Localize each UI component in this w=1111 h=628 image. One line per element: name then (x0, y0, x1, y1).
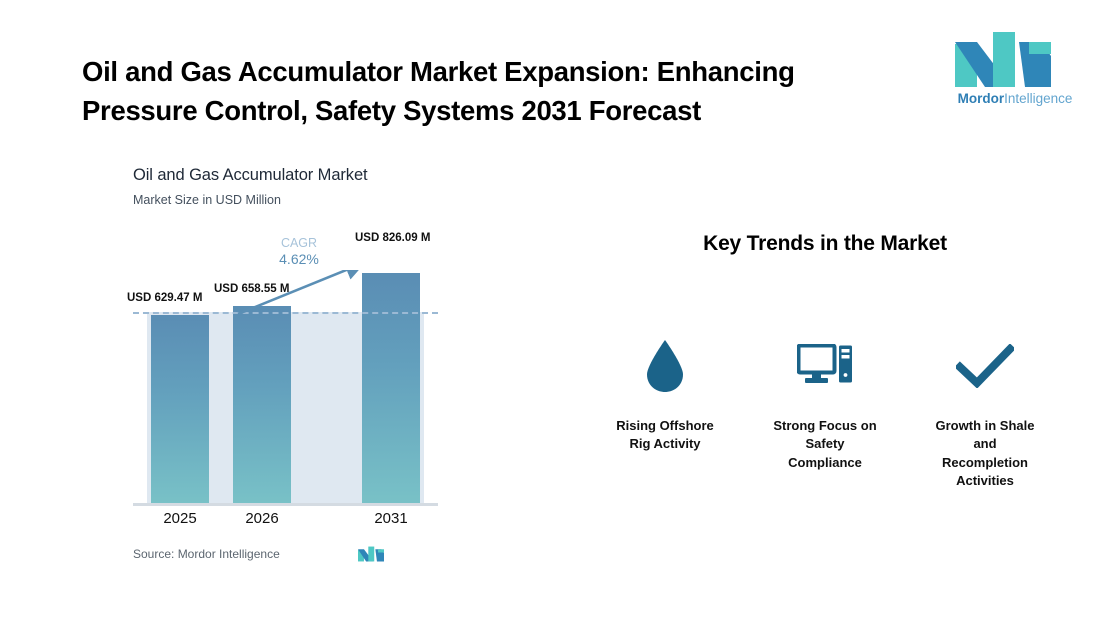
source-label: Source: Mordor Intelligence (133, 547, 280, 561)
checkmark-icon (956, 344, 1014, 388)
bar-chart-plot: USD 629.47 M USD 658.55 M USD 826.09 M C… (133, 270, 438, 506)
trend-label-offshore-rig: Rising Offshore Rig Activity (616, 417, 714, 454)
trend-icon-slot (797, 337, 853, 395)
infographic-page: Oil and Gas Accumulator Market Expansion… (0, 0, 1111, 628)
bar-label-2031: USD 826.09 M (355, 232, 430, 244)
key-trends-row: Rising Offshore Rig Activity Strong Focu… (590, 337, 1060, 491)
page-title-line-1: Oil and Gas Accumulator Market Expansion… (82, 52, 882, 91)
trend-card-offshore-rig: Rising Offshore Rig Activity (590, 337, 740, 491)
key-trends-section: Key Trends in the Market Rising Offshore… (590, 232, 1060, 256)
cagr-annotation: CAGR 4.62% (265, 236, 333, 267)
x-axis-tick-labels: 2025 2026 2031 (133, 510, 438, 532)
brand-wordmark: MordorIntelligence (955, 92, 1075, 106)
trend-icon-slot (644, 337, 686, 395)
mordor-m-icon (955, 32, 1051, 87)
chart-source-row: Source: Mordor Intelligence (133, 546, 438, 562)
trend-label-safety-compliance: Strong Focus on Safety Compliance (773, 417, 876, 472)
key-trends-title: Key Trends in the Market (590, 232, 1060, 256)
growth-arrow-icon (133, 270, 438, 506)
desktop-computer-icon (797, 344, 853, 388)
x-tick-2031: 2031 (361, 510, 421, 527)
x-tick-2026: 2026 (232, 510, 292, 527)
cagr-label-text: CAGR (265, 236, 333, 250)
oil-droplet-icon (644, 339, 686, 393)
source-mordor-logo-icon (358, 546, 384, 562)
brand-word-mordor: Mordor (958, 91, 1005, 106)
cagr-value-text: 4.62% (265, 251, 333, 267)
page-title-line-2: Pressure Control, Safety Systems 2031 Fo… (82, 91, 882, 130)
brand-logo: MordorIntelligence (955, 32, 1075, 106)
trend-label-shale-recompletion: Growth in Shale and Recompletion Activit… (936, 417, 1035, 491)
trend-icon-slot (956, 337, 1014, 395)
x-tick-2025: 2025 (150, 510, 210, 527)
page-title: Oil and Gas Accumulator Market Expansion… (82, 52, 882, 130)
chart-title: Oil and Gas Accumulator Market (133, 166, 453, 185)
trend-card-shale-recompletion: Growth in Shale and Recompletion Activit… (910, 337, 1060, 491)
trend-card-safety-compliance: Strong Focus on Safety Compliance (750, 337, 900, 491)
chart-subtitle: Market Size in USD Million (133, 193, 453, 207)
chart-panel: Oil and Gas Accumulator Market Market Si… (133, 166, 453, 566)
brand-word-intelligence: Intelligence (1004, 91, 1072, 106)
